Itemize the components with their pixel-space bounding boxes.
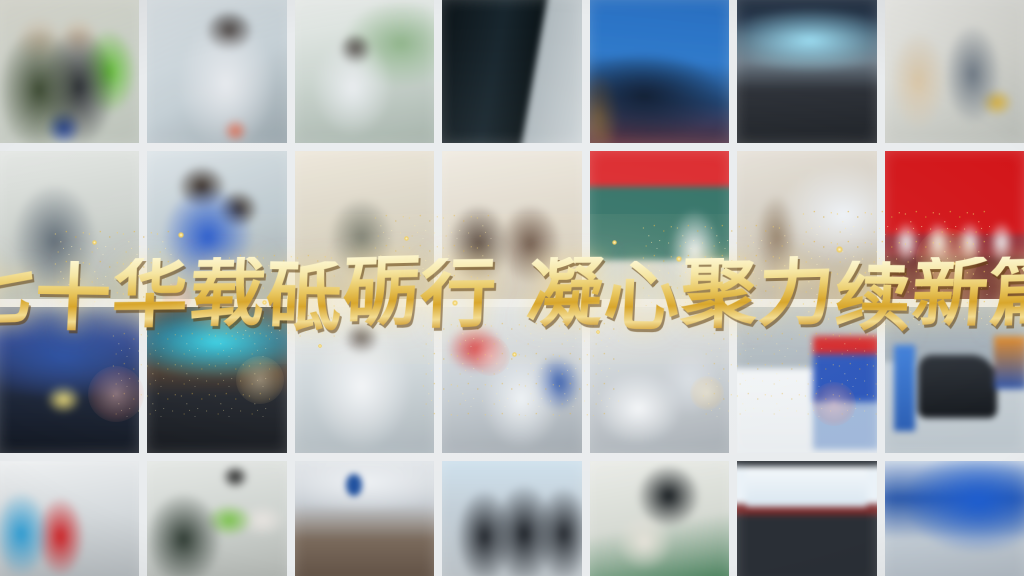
photo-expo-blue-booth	[885, 461, 1024, 576]
photo-training-room-projector	[737, 151, 876, 299]
photo-masked-group-outdoors	[442, 461, 581, 576]
photo-technician-lab-coat	[147, 0, 286, 143]
photo-auditorium-blue-screen	[590, 0, 729, 143]
photo-office-desk-monitor	[590, 461, 729, 576]
photo-blue-meeting-hall	[147, 307, 286, 453]
photo-night-stage-award	[0, 307, 139, 453]
photo-staff-reviewing-documents	[885, 0, 1024, 143]
photo-classroom-microscope	[295, 0, 434, 143]
photo-operator-dual-monitors	[147, 461, 286, 576]
photo-mosaic-grid	[0, 0, 1024, 576]
photo-conference-presentation-screen	[737, 461, 876, 576]
photo-classroom-red-banner	[590, 151, 729, 299]
video-title-card: 七 十 华 载 砥 砺 行 凝 心 聚 力 续 新 篇	[0, 0, 1024, 576]
photo-teacher-at-desk	[295, 151, 434, 299]
photo-award-ceremony-red-backdrop	[885, 151, 1024, 299]
photo-cnc-machine-panel	[442, 0, 581, 143]
photo-workers-blue-uniform	[147, 151, 286, 299]
photo-boardroom-meeting	[295, 461, 434, 576]
photo-white-car-checkpoint	[737, 307, 876, 453]
photo-covid-test-tent	[442, 307, 581, 453]
photo-conference-hall-audience	[737, 0, 876, 143]
photo-dark-car-rain-checkpoint	[885, 307, 1024, 453]
photo-volunteer-handing-item	[0, 461, 139, 576]
photo-group-lobby-visit	[0, 0, 139, 143]
photo-child-in-white	[295, 307, 434, 453]
photo-students-from-behind	[442, 151, 581, 299]
photo-desk-with-ppe-supplies	[590, 307, 729, 453]
photo-corridor-blur	[0, 151, 139, 299]
